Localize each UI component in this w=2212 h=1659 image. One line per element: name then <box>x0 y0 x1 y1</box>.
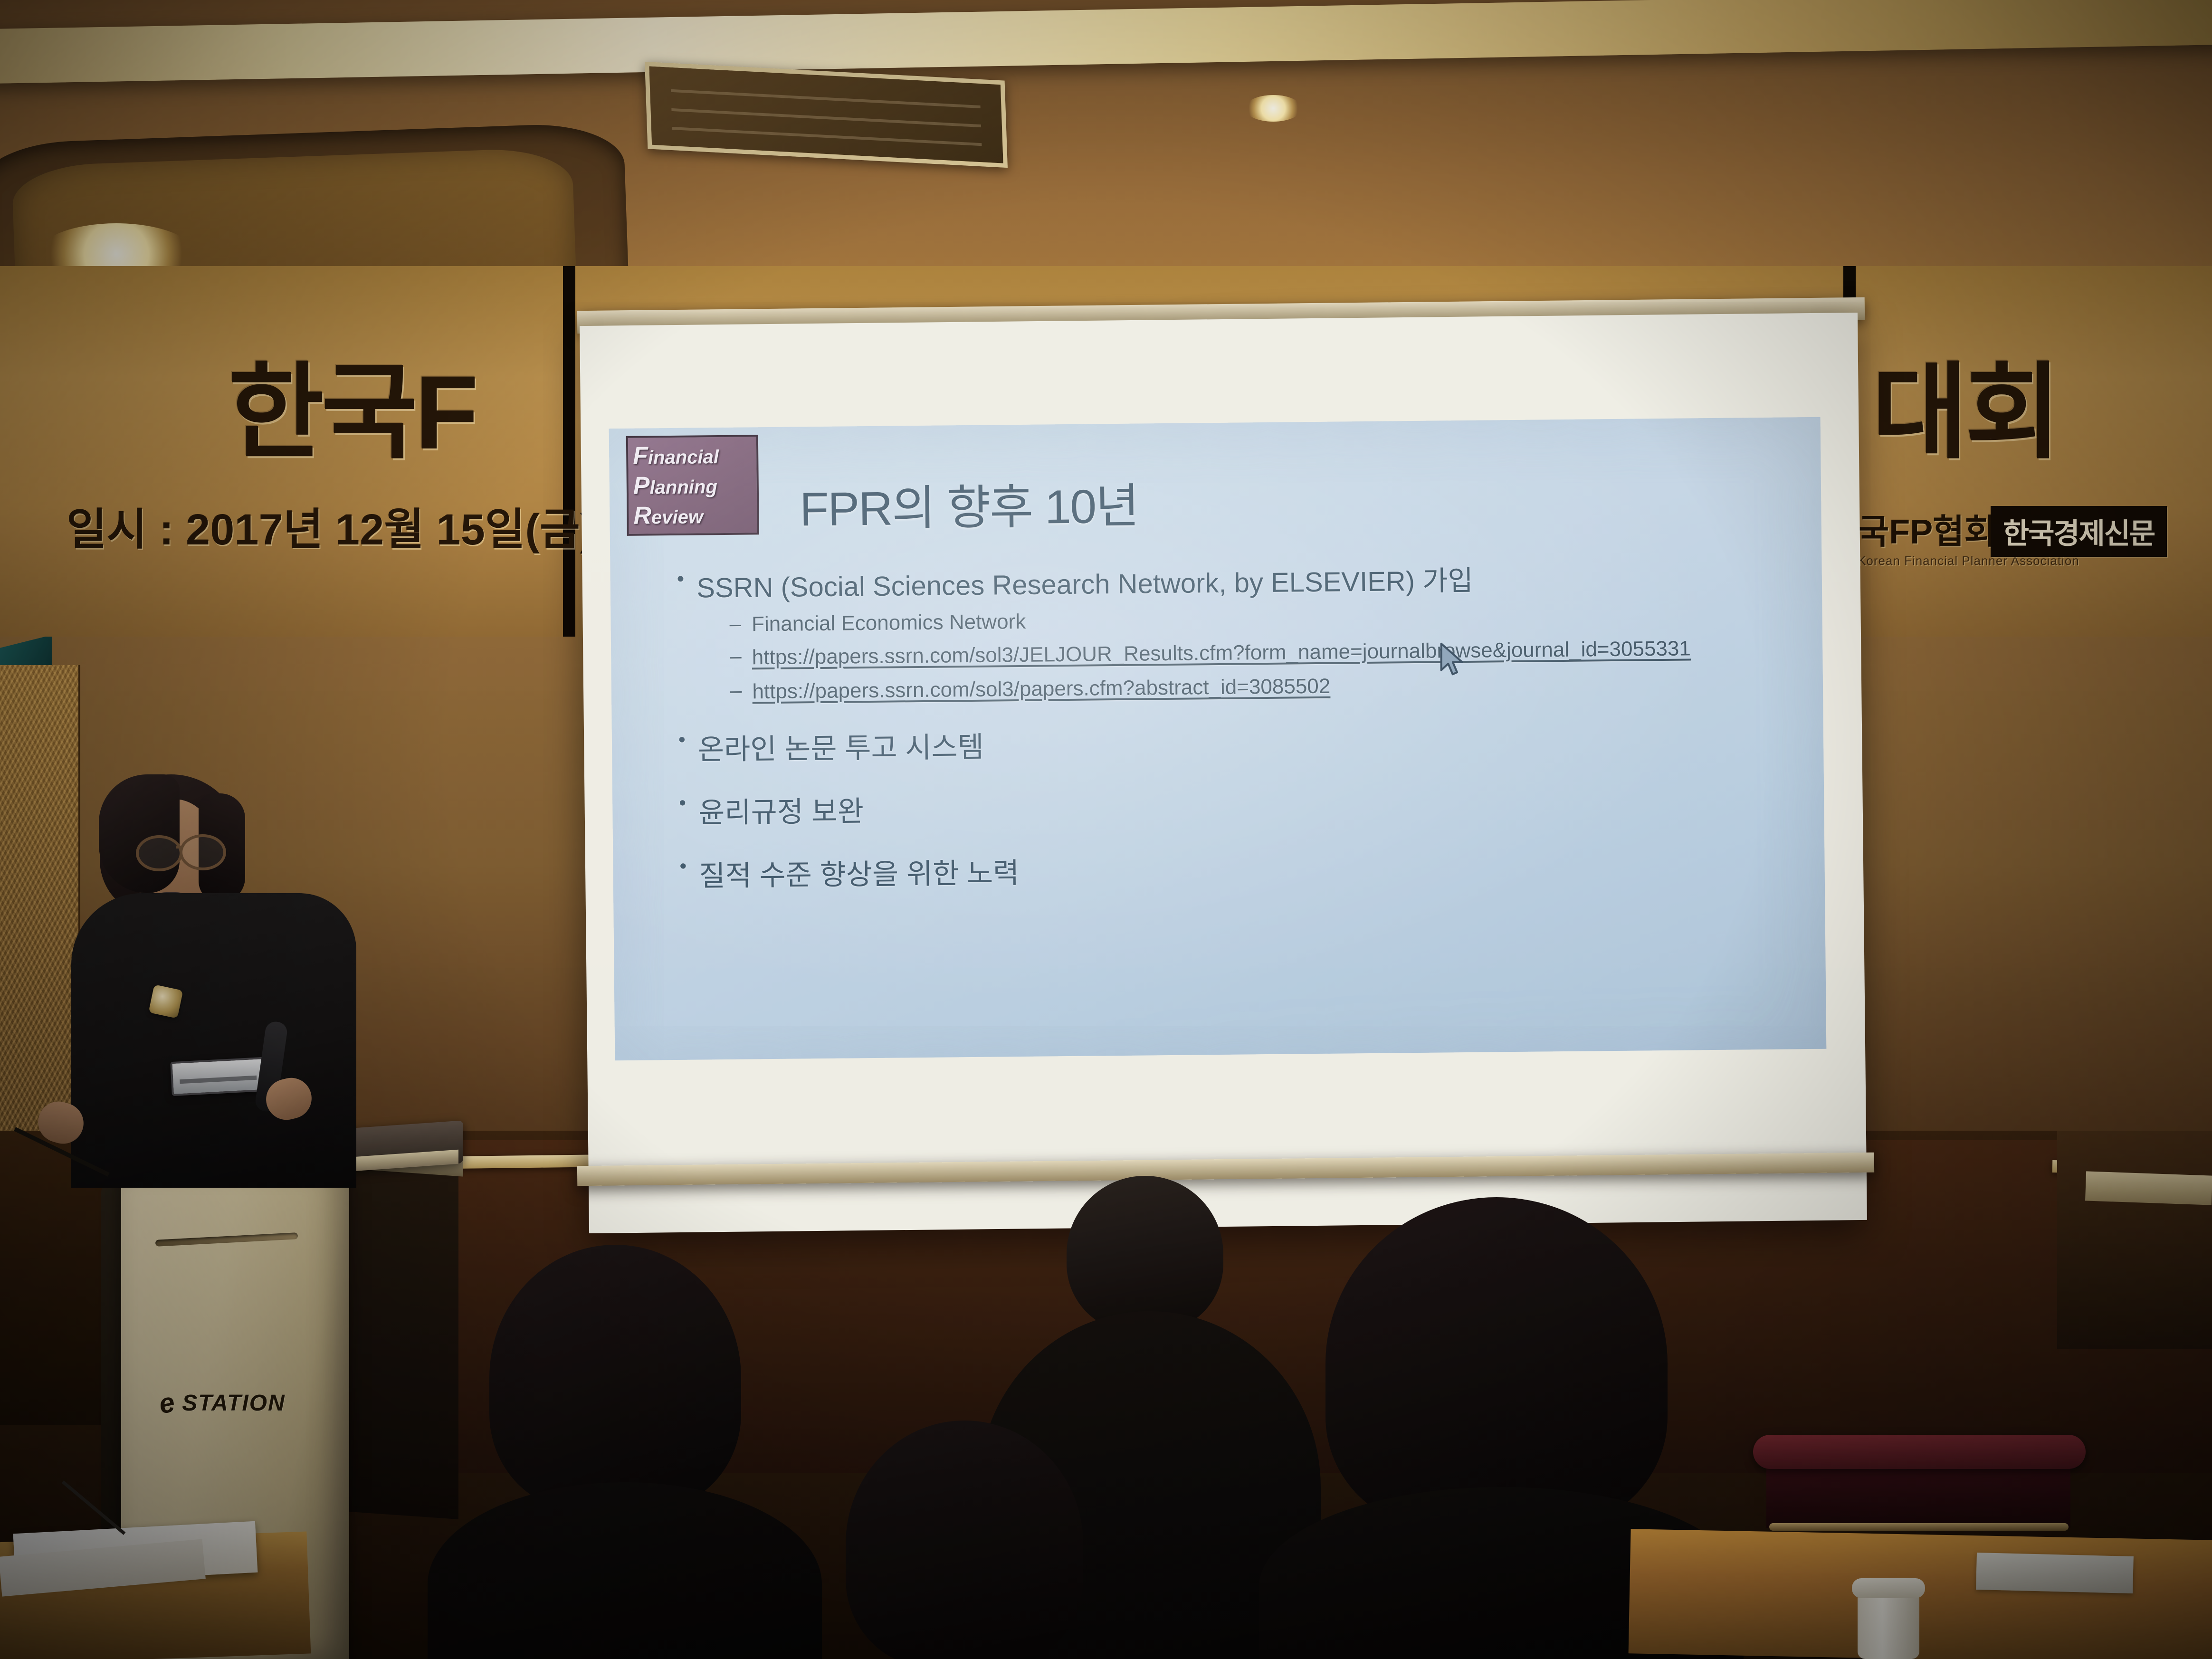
bullet-text: 윤리규정 보완 <box>698 789 864 831</box>
slide-title: FPR의 향후 10년 <box>800 467 1139 540</box>
sub-bullet-text: Financial Economics Network <box>752 610 1026 637</box>
hyperlink-journal-browse[interactable]: https://papers.ssrn.com/sol3/JELJOUR_Res… <box>752 636 1691 670</box>
presentation-slide: Financial Planning Review FPR의 향후 10년 • … <box>609 417 1827 1060</box>
banner-title-left: 한국F <box>228 328 476 479</box>
presenter-hair-front <box>99 774 180 893</box>
right-wall-shelf <box>2085 1171 2212 1205</box>
slide-sub-bullet-item: – https://papers.ssrn.com/sol3/JELJOUR_R… <box>730 635 1794 670</box>
coffee-cup-lid <box>1852 1578 1925 1598</box>
fpr-logo-line-1: Financial <box>633 442 752 468</box>
glasses-bridge-icon <box>176 846 182 849</box>
fpr-logo-word-financial: inancial <box>648 447 719 468</box>
slide-sub-bullet-item: – Financial Economics Network <box>729 602 1793 636</box>
bullet-marker-icon: • <box>679 853 686 879</box>
ceiling-downlight-icon <box>1245 95 1302 122</box>
fpr-logo: Financial Planning Review <box>626 435 759 536</box>
audience-head <box>1325 1197 1668 1530</box>
audience-head <box>846 1421 1083 1659</box>
name-badge <box>170 1057 266 1096</box>
banner-title-right: 대회 <box>1872 328 2059 479</box>
bullet-text: SSRN (Social Sciences Research Network, … <box>696 558 1473 606</box>
glasses-left-lens-icon <box>136 835 182 871</box>
right-side-wall <box>2057 1131 2212 1349</box>
fpr-logo-initial-r: R <box>633 502 651 530</box>
fpr-logo-word-review: eview <box>651 507 703 528</box>
wall-panel-textured <box>0 665 80 1140</box>
lectern-brand: e STATION <box>159 1387 286 1419</box>
estation-label: STATION <box>182 1390 286 1416</box>
glasses-right-lens-icon <box>180 834 226 870</box>
slide-bullet-item: • SSRN (Social Sciences Research Network… <box>677 555 1793 606</box>
slide-sub-bullet-item: – https://papers.ssrn.com/sol3/papers.cf… <box>730 669 1794 705</box>
slide-sub-bullet-group: – Financial Economics Network – https://… <box>729 602 1794 705</box>
fpr-logo-initial-f: F <box>633 442 648 469</box>
dash-marker-icon: – <box>730 679 742 702</box>
lectern-side-panel <box>349 1141 458 1519</box>
chair-headrest <box>1753 1435 2086 1469</box>
presenter <box>71 774 375 1183</box>
audience-head <box>489 1245 741 1511</box>
photo-scene: 한국F 대회 일시 : 2017년 12월 15일(금) 13:3 국FP협회 … <box>0 0 2212 1659</box>
slide-bullet-list: • SSRN (Social Sciences Research Network… <box>677 555 1796 895</box>
dash-marker-icon: – <box>730 645 742 668</box>
dash-marker-icon: – <box>729 613 741 636</box>
bullet-marker-icon: • <box>678 727 686 753</box>
bullet-marker-icon: • <box>677 566 684 592</box>
banner-association-label: 국FP협회 <box>1858 513 1996 551</box>
bullet-text: 질적 수준 향상을 위한 노력 <box>699 850 1020 894</box>
audience-head <box>1067 1176 1223 1333</box>
fpr-logo-word-planning: lanning <box>649 477 717 498</box>
lapel-pin <box>148 984 183 1019</box>
fpr-logo-line-3: Review <box>633 503 752 528</box>
fpr-logo-initial-p: P <box>633 472 650 499</box>
desk-papers-right <box>1976 1553 2134 1593</box>
bullet-marker-icon: • <box>679 790 686 816</box>
hyperlink-paper-abstract[interactable]: https://papers.ssrn.com/sol3/papers.cfm?… <box>752 673 1330 704</box>
presenter-torso <box>71 893 356 1188</box>
slide-bullet-item: • 윤리규정 보완 <box>679 780 1796 832</box>
chair-rail <box>1769 1523 2069 1531</box>
estation-e-icon: e <box>156 1386 178 1421</box>
bullet-text: 온라인 논문 투고 시스템 <box>697 724 984 768</box>
banner-press-sponsor: 한국경제신문 <box>1991 506 2167 557</box>
fpr-logo-line-2: Planning <box>633 472 752 498</box>
slide-bullet-item: • 질적 수준 향상을 위한 노력 <box>679 843 1796 895</box>
slide-bullet-item: • 온라인 논문 투고 시스템 <box>678 716 1795 769</box>
lectern-slot <box>155 1232 298 1247</box>
